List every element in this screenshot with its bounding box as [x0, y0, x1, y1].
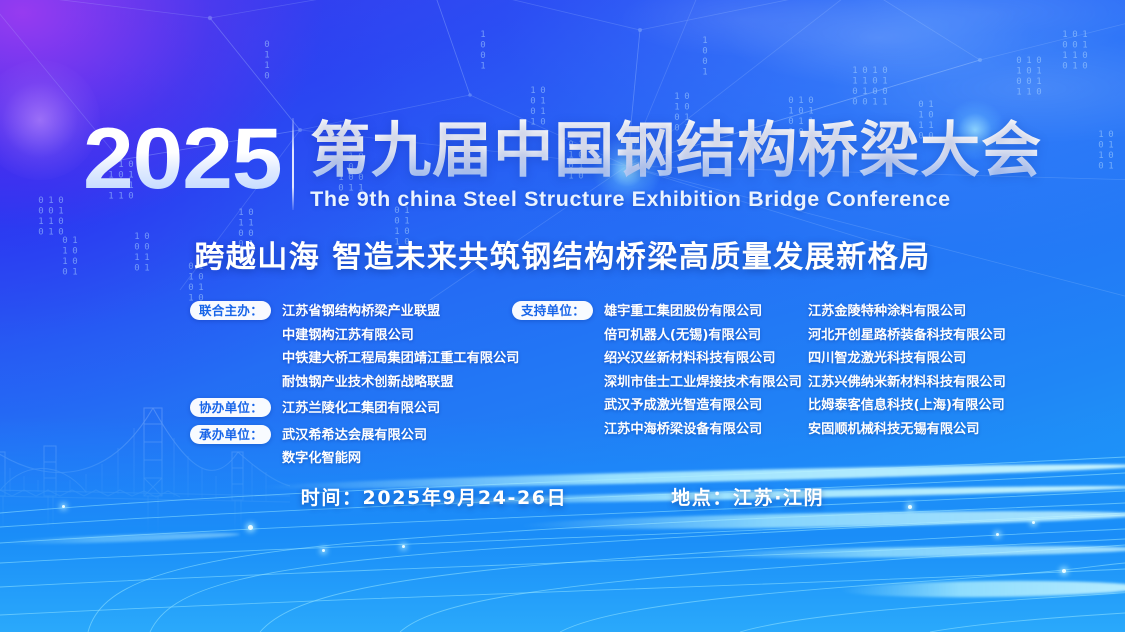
conference-banner: 010010110010 10010110 011010010101 00111… [0, 0, 1125, 632]
supporter-item: 江苏金陵特种涂料有限公司 [808, 300, 1006, 324]
supporter-item: 倍可机器人(无锡)有限公司 [604, 324, 802, 348]
supporter-item: 安固顺机械科技无锡有限公司 [808, 418, 1006, 442]
event-meta: 时间：2025年9月24-26日 地点：江苏·江阴 [0, 483, 1125, 510]
co-host-item: 中铁建大桥工程局集团靖江重工有限公司 [282, 347, 519, 371]
undertaker-group: 承办单位： 武汉希希达会展有限公司 数字化智能网 [190, 424, 519, 471]
supporter-item: 四川智龙激光科技有限公司 [808, 347, 1006, 371]
organizers-column-right: 江苏金陵特种涂料有限公司 河北开创星路桥装备科技有限公司 四川智龙激光科技有限公… [808, 300, 1006, 441]
supporter-item: 江苏兴佛纳米新材料科技有限公司 [808, 371, 1006, 395]
undertaker-item: 数字化智能网 [282, 447, 427, 471]
slogan: 跨越山海 智造未来共筑钢结构桥梁高质量发展新格局 [0, 238, 1125, 278]
supporter-item: 深圳市佳士工业焊接技术有限公司 [604, 371, 802, 395]
event-date: 时间：2025年9月24-26日 [301, 483, 567, 510]
page-subtitle-en: The 9th china Steel Structure Exhibition… [310, 186, 1042, 212]
organizers-section: 联合主办： 江苏省钢结构桥梁产业联盟 中建钢构江苏有限公司 中铁建大桥工程局集团… [0, 300, 1125, 448]
event-location: 地点：江苏·江阴 [671, 483, 824, 510]
title-row: 2025 第九届中国钢结构桥梁大会 The 9th china Steel St… [0, 118, 1125, 212]
supporter-item: 绍兴汉丝新材料科技有限公司 [604, 347, 802, 371]
co-organizer-label: 协办单位： [190, 398, 271, 417]
undertaker-label: 承办单位： [190, 425, 271, 444]
co-organizer-group: 协办单位： 江苏兰陵化工集团有限公司 [190, 397, 519, 421]
co-host-item: 江苏省钢结构桥梁产业联盟 [282, 300, 519, 324]
page-title: 第九届中国钢结构桥梁大会 [310, 118, 1042, 184]
co-host-item: 耐蚀钢产业技术创新战略联盟 [282, 371, 519, 395]
co-host-group: 联合主办： 江苏省钢结构桥梁产业联盟 中建钢构江苏有限公司 中铁建大桥工程局集团… [190, 300, 519, 394]
supporter-item: 河北开创星路桥装备科技有限公司 [808, 324, 1006, 348]
supporter-item: 比姆泰客信息科技(上海)有限公司 [808, 394, 1006, 418]
organizers-column-left: 联合主办： 江苏省钢结构桥梁产业联盟 中建钢构江苏有限公司 中铁建大桥工程局集团… [190, 300, 519, 474]
organizers-column-middle: 支持单位： 雄宇重工集团股份有限公司 倍可机器人(无锡)有限公司 绍兴汉丝新材料… [512, 300, 802, 441]
supporter-label: 支持单位： [512, 301, 593, 320]
supporter-group: 支持单位： 雄宇重工集团股份有限公司 倍可机器人(无锡)有限公司 绍兴汉丝新材料… [512, 300, 802, 441]
supporter-item: 武汉予成激光智造有限公司 [604, 394, 802, 418]
undertaker-item: 武汉希希达会展有限公司 [282, 424, 427, 448]
supporter-item: 江苏中海桥梁设备有限公司 [604, 418, 802, 442]
year-2025: 2025 [83, 118, 299, 200]
co-organizer-item: 江苏兰陵化工集团有限公司 [282, 397, 440, 421]
co-host-label: 联合主办： [190, 301, 271, 320]
co-host-item: 中建钢构江苏有限公司 [282, 324, 519, 348]
supporter-item: 雄宇重工集团股份有限公司 [604, 300, 802, 324]
